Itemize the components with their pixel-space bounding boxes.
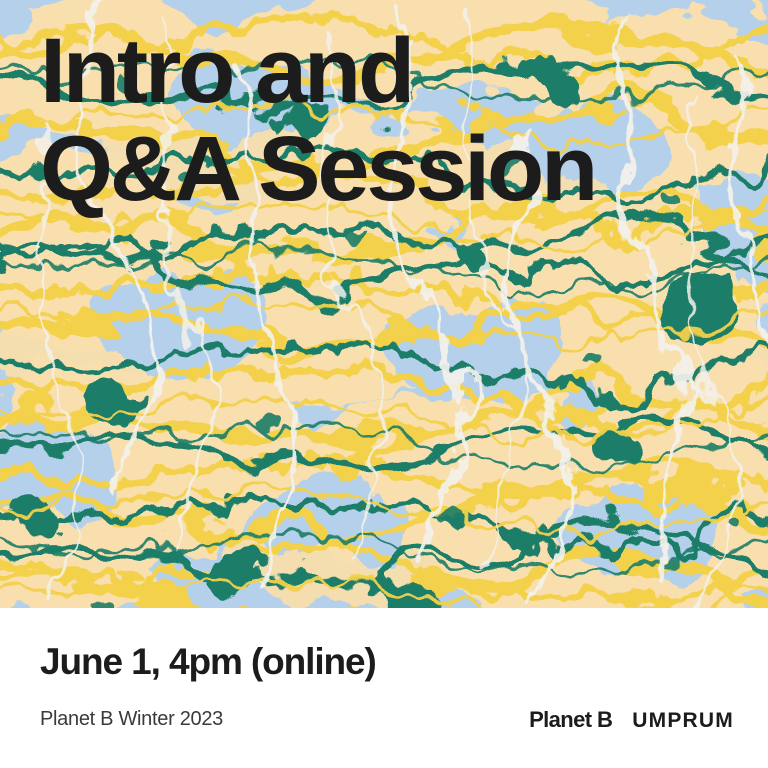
poster-footer: June 1, 4pm (online) Planet B Winter 202… [0,608,768,768]
umprum-logo: UMPRUM [632,709,734,733]
logo-group: Planet B UMPRUM [529,707,734,733]
event-series-label: Planet B Winter 2023 [40,708,223,731]
event-datetime: June 1, 4pm (online) [40,641,376,683]
marbled-swirl-pattern [0,0,768,608]
poster-canvas: Intro and Q&A Session June 1, 4pm (onlin… [0,0,768,768]
planet-b-logo: Planet B [529,707,612,733]
